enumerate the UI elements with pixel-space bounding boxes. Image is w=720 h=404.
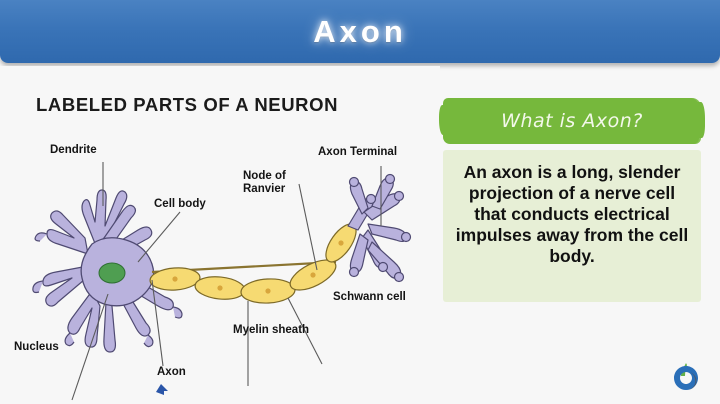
definition-text: An axon is a long, slender projection of… <box>451 162 693 267</box>
label-nucleus: Nucleus <box>14 341 59 354</box>
label-schwann-cell: Schwann cell <box>333 291 406 304</box>
definition-header-band: What is Axon? <box>443 98 701 144</box>
page-title: Axon <box>313 14 407 50</box>
nucleus-shape <box>99 263 125 283</box>
definition-body: An axon is a long, slender projection of… <box>443 150 701 302</box>
label-axon: Axon <box>157 366 186 379</box>
brand-logo-icon <box>670 360 702 392</box>
axon-terminal-arbor <box>348 175 411 282</box>
neuron-illustration: .soma{fill:#b9b2dd;stroke:#4f4a72;stroke… <box>0 66 440 404</box>
cursor-artifact <box>156 384 168 395</box>
label-cell-body: Cell body <box>154 198 206 211</box>
definition-header-label: What is Axon? <box>501 110 643 132</box>
label-dendrite: Dendrite <box>50 144 97 157</box>
neuron-diagram-panel: LABELED PARTS OF A NEURON .soma{fill:#b9… <box>0 66 440 404</box>
myelin-sheath-chain <box>149 219 362 304</box>
label-axon-terminal: Axon Terminal <box>318 146 397 159</box>
label-myelin-sheath: Myelin sheath <box>233 324 309 337</box>
definition-card: What is Axon? An axon is a long, slender… <box>443 98 701 302</box>
header-banner: Axon <box>0 0 720 63</box>
label-node-of-ranvier: Node of Ranvier <box>243 170 286 196</box>
